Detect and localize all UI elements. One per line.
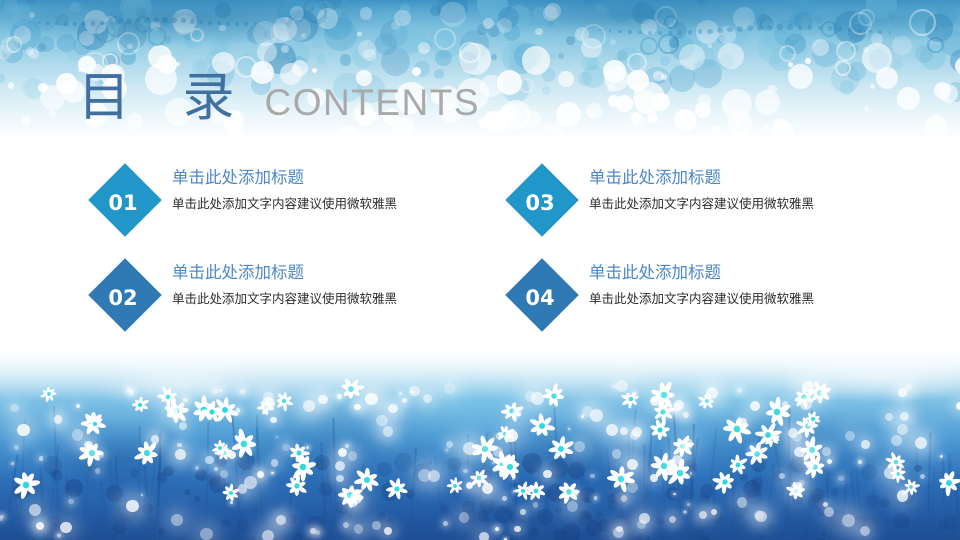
number-badge-01[interactable]: 01 [88,163,162,237]
item-text-block-03: 单击此处添加标题 单击此处添加文字内容建议使用微软雅黑 [589,163,814,212]
contents-item-01[interactable]: 01 单击此处添加标题 单击此处添加文字内容建议使用微软雅黑 [88,163,397,237]
daisy-flower [446,477,465,496]
badge-number-01: 01 [88,163,162,237]
item-title-04[interactable]: 单击此处添加标题 [589,263,814,284]
item-title-03[interactable]: 单击此处添加标题 [589,168,814,189]
daisy-flower [761,396,793,428]
contents-item-02[interactable]: 02 单击此处添加标题 单击此处添加文字内容建议使用微软雅黑 [88,258,397,332]
item-title-02[interactable]: 单击此处添加标题 [172,263,397,284]
item-desc-04[interactable]: 单击此处添加文字内容建议使用微软雅黑 [589,291,814,307]
flower-center [773,408,780,415]
item-desc-02[interactable]: 单击此处添加文字内容建议使用微软雅黑 [172,291,397,307]
contents-item-03[interactable]: 03 单击此处添加标题 单击此处添加文字内容建议使用微软雅黑 [505,163,814,237]
daisy-flower [713,470,737,494]
badge-number-03: 03 [505,163,579,237]
presentation-slide: 目 录 CONTENTS 01 单击此处添加标题 单击此处添加文字内容建议使用微… [0,0,960,540]
flower-center [394,486,399,491]
item-text-block-04: 单击此处添加标题 单击此处添加文字内容建议使用微软雅黑 [589,258,814,307]
number-badge-04[interactable]: 04 [505,258,579,332]
flower-center [722,479,727,484]
meadow-top-fade [0,340,960,400]
contents-item-04[interactable]: 04 单击此处添加标题 单击此处添加文字内容建议使用微软雅黑 [505,258,814,332]
page-title-cn: 目 录 [78,72,253,124]
watercolor-daisy-meadow [0,340,960,540]
daisy-flower [385,477,408,500]
flower-center [533,488,538,493]
badge-number-04: 04 [505,258,579,332]
contents-list: 01 单击此处添加标题 单击此处添加文字内容建议使用微软雅黑 02 单击此处添加… [0,163,960,343]
badge-number-02: 02 [88,258,162,332]
page-title-en: CONTENTS [265,84,481,121]
number-badge-02[interactable]: 02 [88,258,162,332]
item-text-block-01: 单击此处添加标题 单击此处添加文字内容建议使用微软雅黑 [172,163,397,212]
number-badge-03[interactable]: 03 [505,163,579,237]
item-desc-01[interactable]: 单击此处添加文字内容建议使用微软雅黑 [172,196,397,212]
item-desc-03[interactable]: 单击此处添加文字内容建议使用微软雅黑 [589,196,814,212]
page-title: 目 录 CONTENTS [78,72,480,124]
item-text-block-02: 单击此处添加标题 单击此处添加文字内容建议使用微软雅黑 [172,258,397,307]
flower-center [476,475,481,480]
daisy-flower [524,479,547,502]
item-title-01[interactable]: 单击此处添加标题 [172,168,397,189]
